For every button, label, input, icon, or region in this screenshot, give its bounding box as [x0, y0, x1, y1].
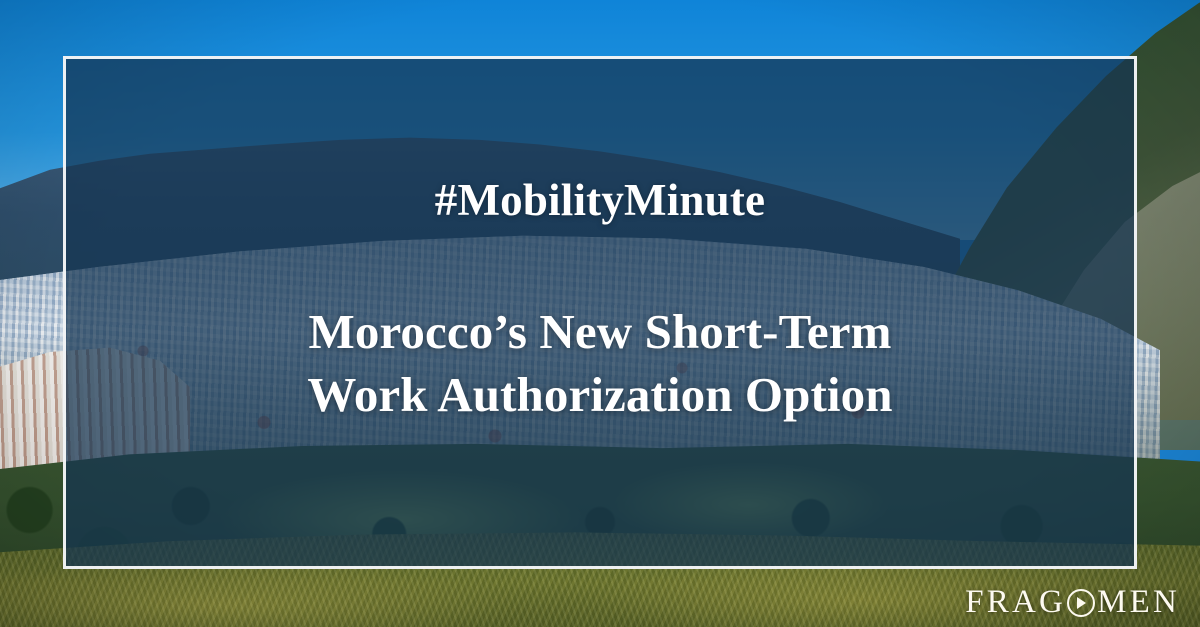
- social-media-card: #MobilityMinute Morocco’s New Short-Term…: [0, 0, 1200, 627]
- logo-text-after: MEN: [1097, 586, 1180, 619]
- fragomen-logo: FRAG MEN: [965, 586, 1180, 619]
- hashtag-label: #MobilityMinute: [435, 178, 765, 223]
- play-in-circle-icon: [1067, 589, 1095, 617]
- headline: Morocco’s New Short-Term Work Authorizat…: [307, 301, 892, 426]
- headline-line-2: Work Authorization Option: [307, 364, 892, 427]
- headline-line-1: Morocco’s New Short-Term: [307, 301, 892, 364]
- logo-play-triangle: [1077, 597, 1086, 609]
- text-content-block: #MobilityMinute Morocco’s New Short-Term…: [63, 56, 1137, 569]
- logo-text-before: FRAG: [965, 586, 1066, 619]
